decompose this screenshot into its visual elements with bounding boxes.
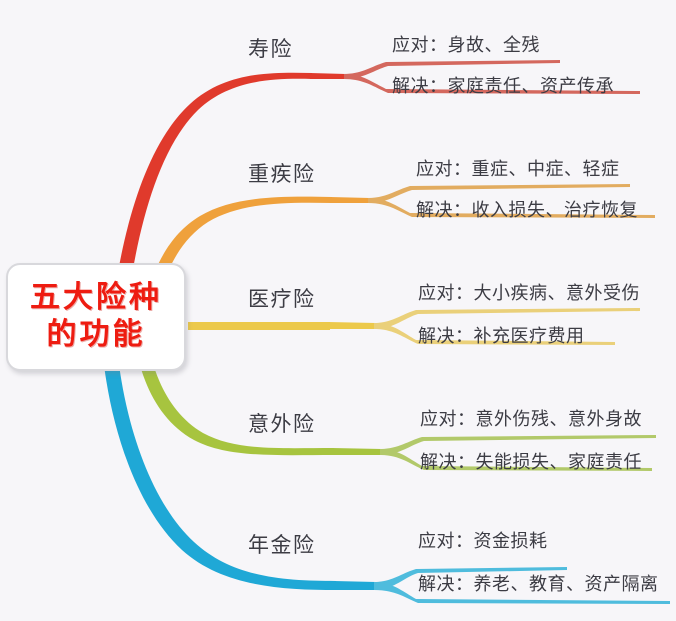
- leaf-label-ann-cope[interactable]: 应对：资金损耗: [418, 527, 548, 553]
- topic-label-medical[interactable]: 医疗险: [248, 283, 316, 313]
- branch-spine-critical-illness: [330, 197, 370, 203]
- branch-trunk-medical: [188, 322, 330, 330]
- leaf-label-ci-cope[interactable]: 应对：重症、中症、轻症: [416, 155, 620, 181]
- leaf-label-med-solve[interactable]: 解决：补充医疗费用: [418, 322, 585, 348]
- leaf-label-life-cope[interactable]: 应对：身故、全残: [392, 31, 540, 57]
- mindmap-canvas: 五大险种 的功能 寿险 重疾险 医疗险 意外险 年金险 应对：身故、全残 解决：…: [0, 0, 676, 621]
- topic-label-accident[interactable]: 意外险: [248, 408, 316, 438]
- root-node-line-2: 的功能: [47, 317, 146, 354]
- leaf-label-life-solve[interactable]: 解决：家庭责任、资产传承: [392, 72, 614, 98]
- branch-spine-accident: [332, 448, 382, 455]
- topic-label-critical-illness[interactable]: 重疾险: [248, 158, 316, 188]
- leaf-label-acc-solve[interactable]: 解决：失能损失、家庭责任: [420, 448, 642, 474]
- branch-spine-medical: [328, 322, 376, 329]
- leaf-label-ci-solve[interactable]: 解决：收入损失、治疗恢复: [416, 196, 638, 222]
- topic-label-life[interactable]: 寿险: [248, 33, 293, 63]
- leaf-label-med-cope[interactable]: 应对：大小疾病、意外受伤: [418, 279, 640, 305]
- topic-label-annuity[interactable]: 年金险: [248, 529, 316, 559]
- root-node-line-1: 五大险种: [30, 280, 162, 317]
- root-node[interactable]: 五大险种 的功能: [6, 263, 186, 371]
- branch-spine-annuity: [334, 581, 376, 590]
- leaf-label-ann-solve[interactable]: 解决：养老、教育、资产隔离: [418, 570, 659, 596]
- leaf-label-acc-cope[interactable]: 应对：意外伤残、意外身故: [420, 405, 642, 431]
- branch-spine-life: [310, 73, 346, 79]
